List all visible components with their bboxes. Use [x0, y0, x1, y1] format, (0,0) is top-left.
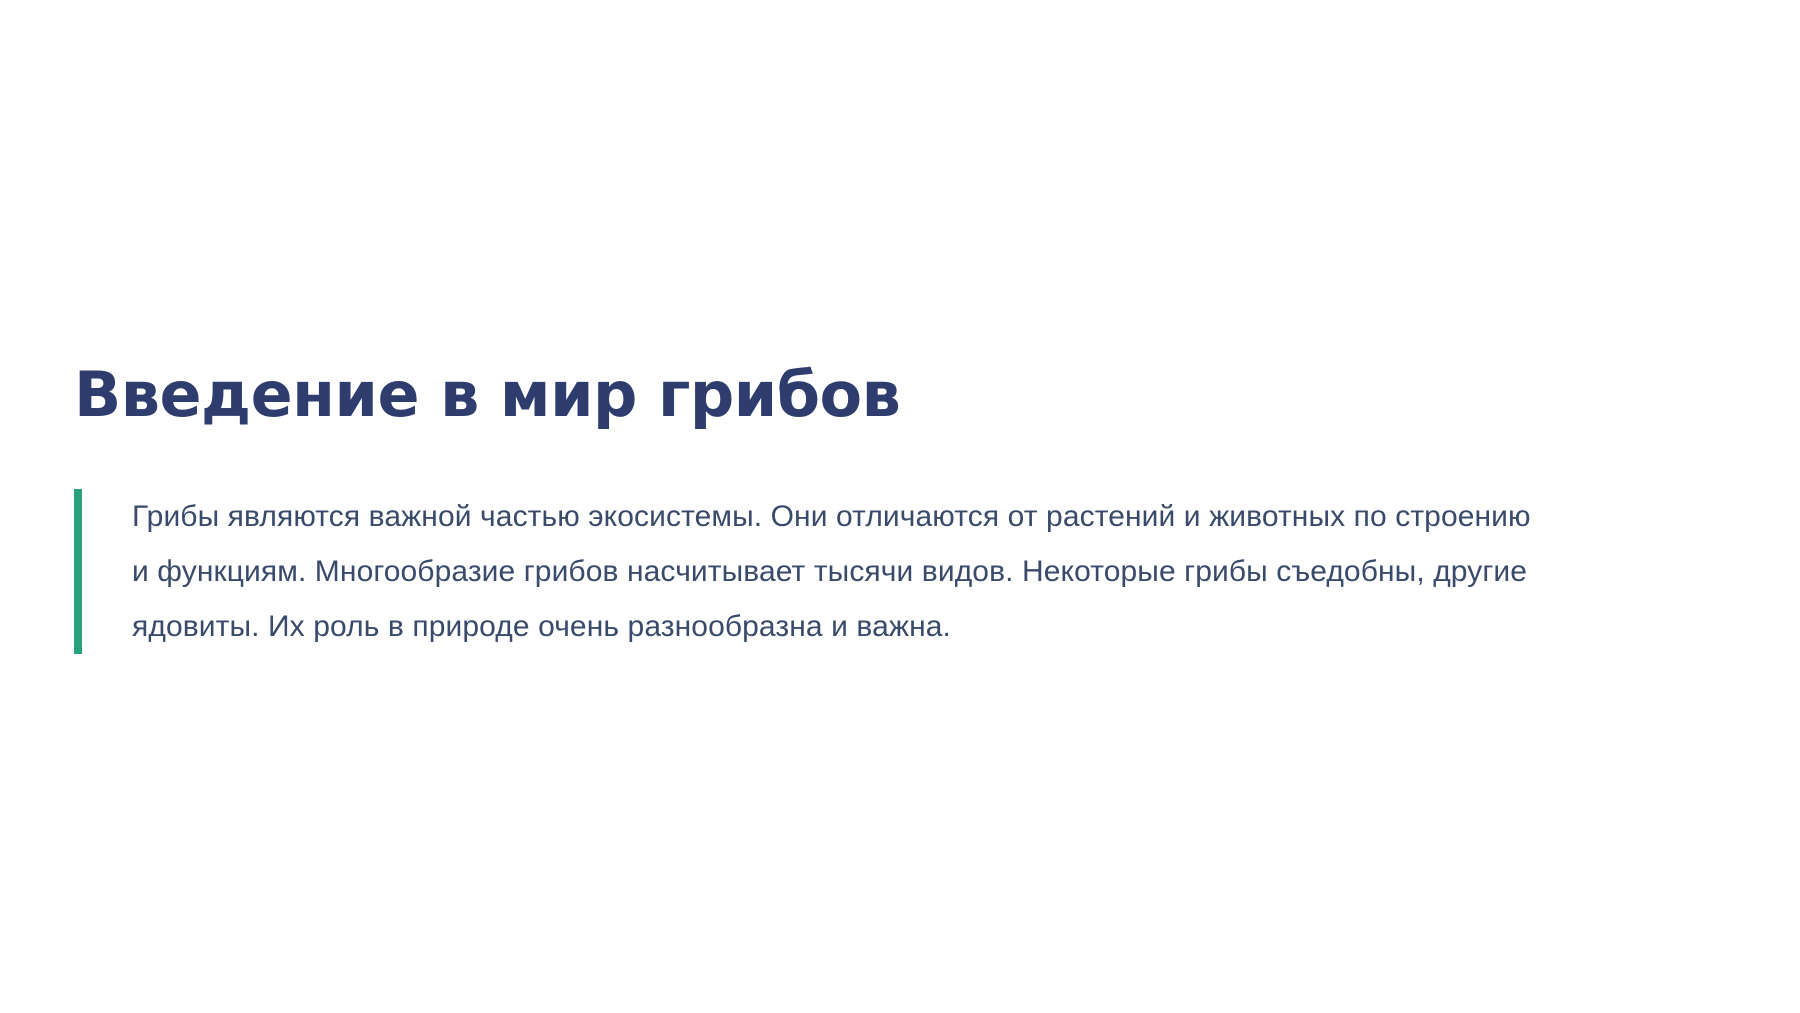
body-text-container: Грибы являются важной частью экосистемы.…	[82, 489, 1734, 654]
page-title: Введение в мир грибов	[74, 362, 900, 427]
body-paragraph: Грибы являются важной частью экосистемы.…	[132, 489, 1544, 654]
slide-canvas: Введение в мир грибов Грибы являются важ…	[0, 0, 1800, 1013]
accent-bar	[74, 489, 82, 654]
body-callout: Грибы являются важной частью экосистемы.…	[74, 489, 1734, 654]
